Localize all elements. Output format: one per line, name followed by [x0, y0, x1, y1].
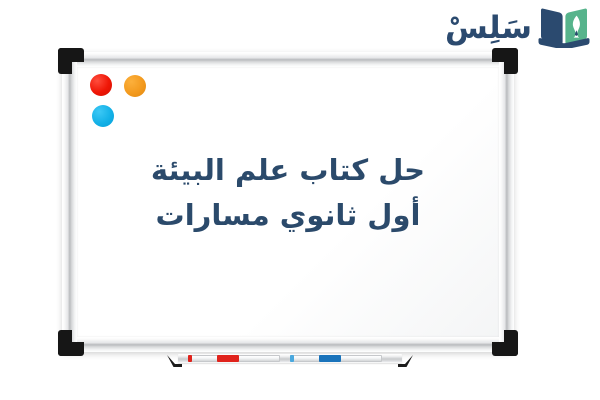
- headline-line-2: أول ثانوي مسارات: [62, 193, 514, 238]
- marker-red-tip: [188, 355, 192, 362]
- page-title: حل كتاب علم البيئة أول ثانوي مسارات: [62, 148, 514, 238]
- brand-name: سَلِسْ: [445, 13, 532, 44]
- whiteboard: حل كتاب علم البيئة أول ثانوي مسارات: [62, 52, 514, 352]
- open-book-icon: [538, 6, 590, 48]
- marker-blue-tip: [290, 355, 294, 362]
- magnet-blue-icon: [92, 105, 114, 127]
- marker-blue-cap: [319, 355, 341, 362]
- corner-bracket-top-right: [492, 48, 518, 74]
- marker-blue: [290, 355, 382, 362]
- magnet-red-icon: [90, 74, 112, 96]
- corner-bracket-bottom-left: [58, 330, 84, 356]
- corner-bracket-top-left: [58, 48, 84, 74]
- marker-red-cap: [217, 355, 239, 362]
- headline-line-1: حل كتاب علم البيئة: [62, 148, 514, 193]
- marker-red: [188, 355, 280, 362]
- frame-edge-top: [62, 52, 514, 67]
- banner-canvas: سَلِسْ: [0, 0, 600, 400]
- corner-bracket-bottom-right: [492, 330, 518, 356]
- magnet-orange-icon: [124, 75, 146, 97]
- marker-tray: [170, 350, 410, 366]
- brand-logo[interactable]: سَلِسْ: [445, 4, 590, 50]
- magnet-group: [90, 74, 154, 128]
